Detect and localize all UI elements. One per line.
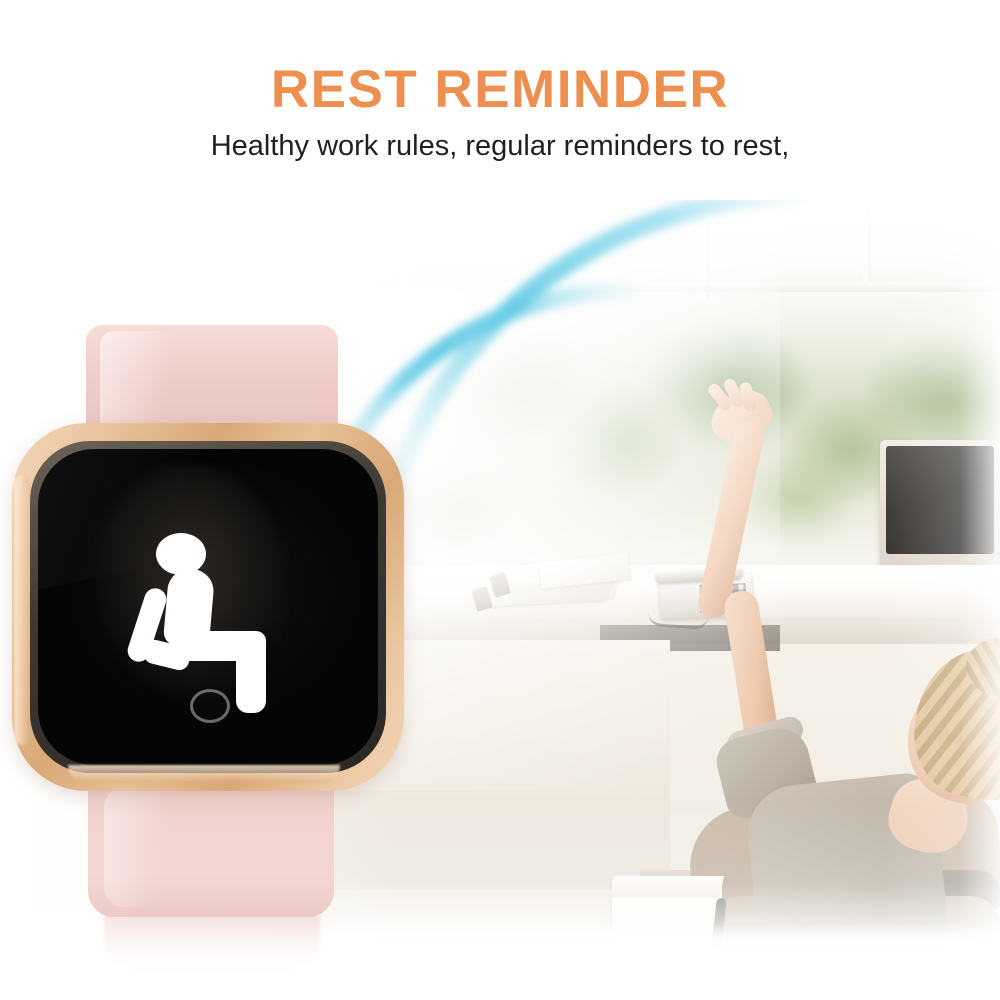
seated-person-icon (130, 531, 300, 701)
watch-band-bottom-highlight (104, 787, 184, 907)
seated-person-head (156, 533, 206, 575)
watch-screen[interactable] (38, 449, 378, 765)
home-button[interactable] (190, 689, 230, 723)
smartwatch (8, 325, 408, 905)
page-title: REST REMINDER (0, 62, 1000, 117)
watch-case-bottom-highlight (68, 765, 340, 783)
window-mullion (862, 170, 871, 290)
seated-person-shin (236, 631, 266, 713)
subtitle-line-1: Healthy work rules, regular reminders to… (0, 128, 1000, 165)
watch-band-reflection (104, 913, 320, 971)
watch-case-highlight (14, 475, 30, 745)
marketing-banner: REST REMINDER Healthy work rules, regula… (0, 0, 1000, 1000)
